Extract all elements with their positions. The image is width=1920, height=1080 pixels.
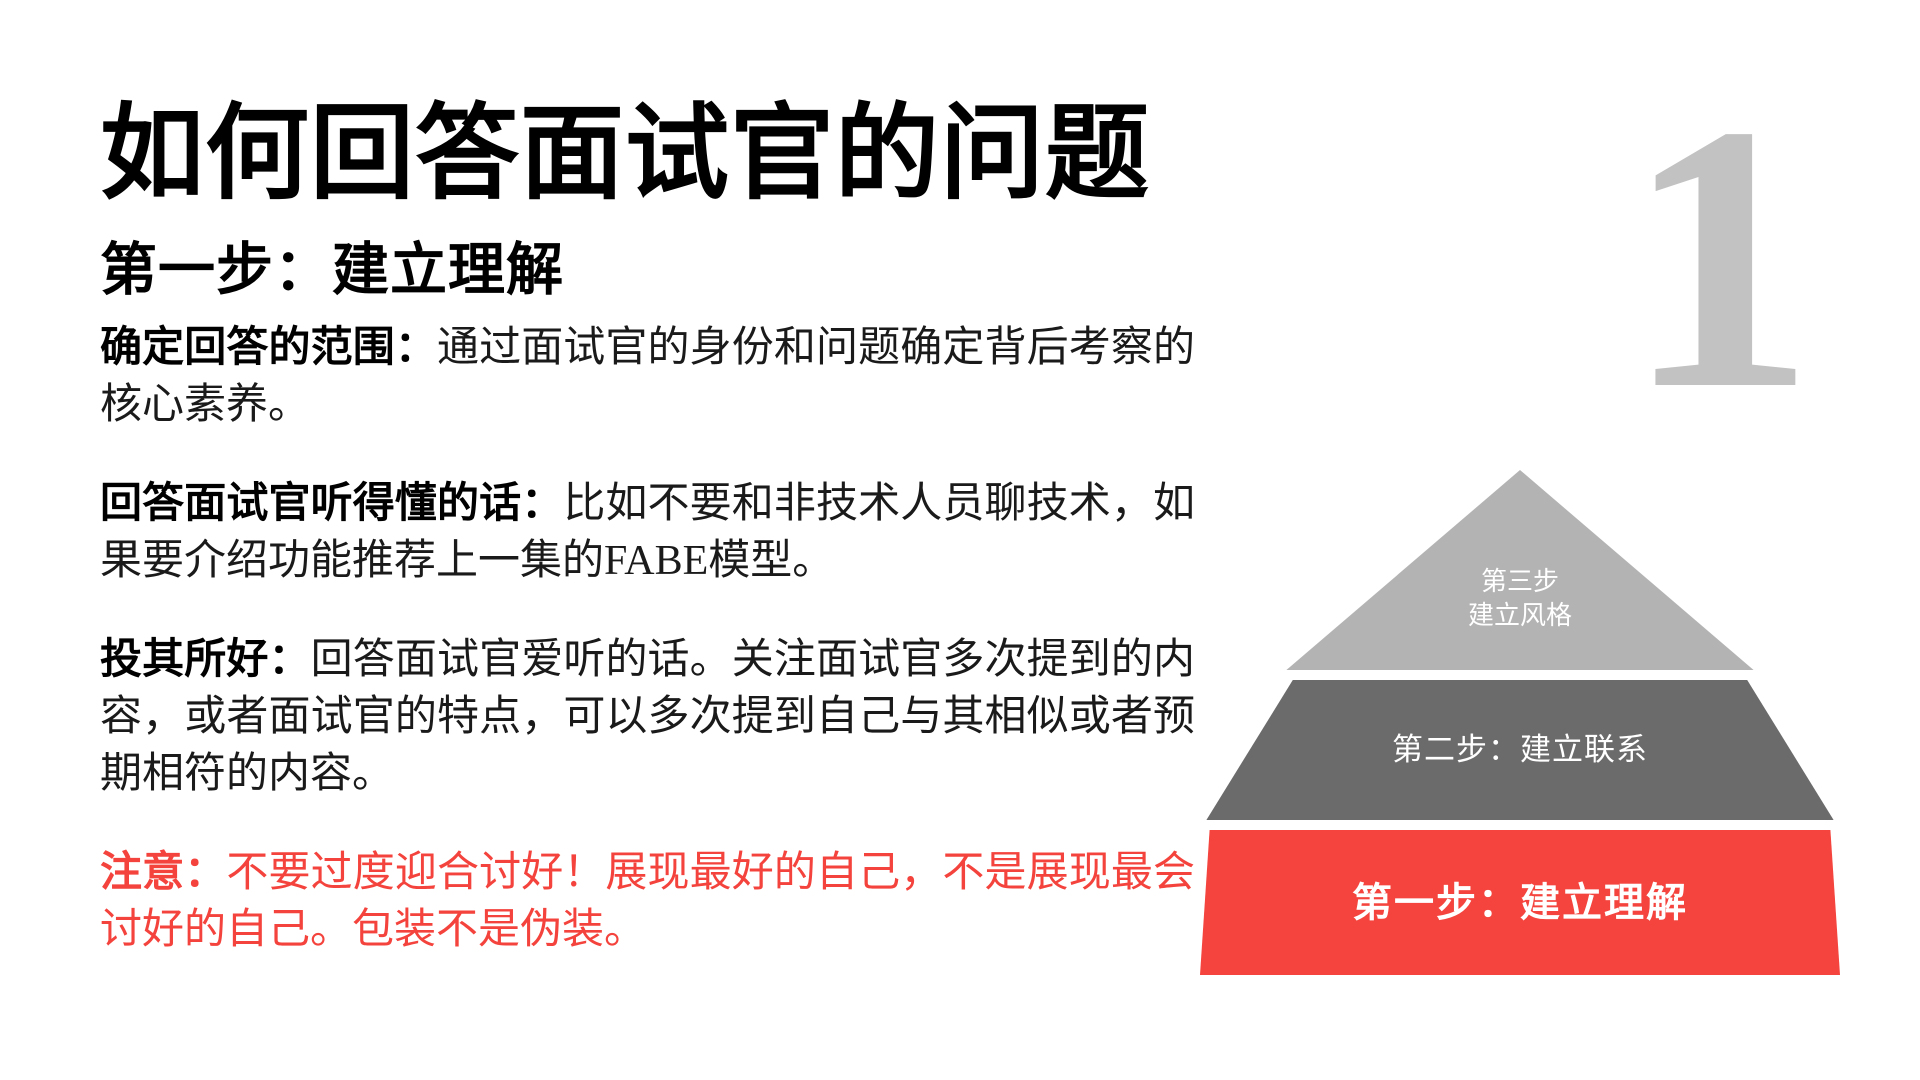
page-title: 如何回答面试官的问题 bbox=[100, 96, 1195, 214]
paragraph-lead: 确定回答的范围： bbox=[100, 325, 437, 371]
pyramid-diagram: 第三步 建立风格 第二步：建立联系 第一步：建立理解 bbox=[1200, 470, 1840, 990]
paragraph-lead: 投其所好： bbox=[100, 637, 311, 683]
section-heading: 第一步：建立理解 bbox=[100, 236, 1195, 306]
pyramid-tier-one-label: 第一步：建立理解 bbox=[1352, 878, 1688, 928]
step-numeral: 1 bbox=[1600, 78, 1840, 438]
paragraph-lead: 回答面试官听得懂的话： bbox=[100, 481, 563, 527]
body-paragraph-2: 回答面试官听得懂的话：比如不要和非技术人员聊技术，如果要介绍功能推荐上一集的FA… bbox=[100, 476, 1195, 590]
pyramid-tier-one[interactable]: 第一步：建立理解 bbox=[1200, 830, 1840, 975]
pyramid-tier-two[interactable]: 第二步：建立联系 bbox=[1200, 680, 1840, 820]
body-paragraph-warning: 注意：不要过度迎合讨好！展现最好的自己，不是展现最会讨好的自己。包装不是伪装。 bbox=[100, 845, 1195, 959]
content-column: 如何回答面试官的问题 第一步：建立理解 确定回答的范围：通过面试官的身份和问题确… bbox=[100, 96, 1195, 1001]
pyramid-tier-three-line1: 第三步 bbox=[1468, 565, 1572, 599]
body-paragraph-3: 投其所好：回答面试官爱听的话。关注面试官多次提到的内容，或者面试官的特点，可以多… bbox=[100, 632, 1195, 803]
pyramid-tier-three[interactable]: 第三步 建立风格 bbox=[1200, 470, 1840, 670]
pyramid-tier-two-label: 第二步：建立联系 bbox=[1392, 730, 1648, 770]
slide-canvas: 1 如何回答面试官的问题 第一步：建立理解 确定回答的范围：通过面试官的身份和问… bbox=[0, 0, 1920, 1080]
warning-lead: 注意： bbox=[100, 850, 226, 896]
body-paragraph-1: 确定回答的范围：通过面试官的身份和问题确定背后考察的核心素养。 bbox=[100, 320, 1195, 434]
pyramid-tier-three-line2: 建立风格 bbox=[1468, 599, 1572, 633]
pyramid-tier-three-label: 第三步 建立风格 bbox=[1468, 565, 1572, 633]
warning-text: 不要过度迎合讨好！展现最好的自己，不是展现最会讨好的自己。包装不是伪装。 bbox=[100, 850, 1195, 953]
